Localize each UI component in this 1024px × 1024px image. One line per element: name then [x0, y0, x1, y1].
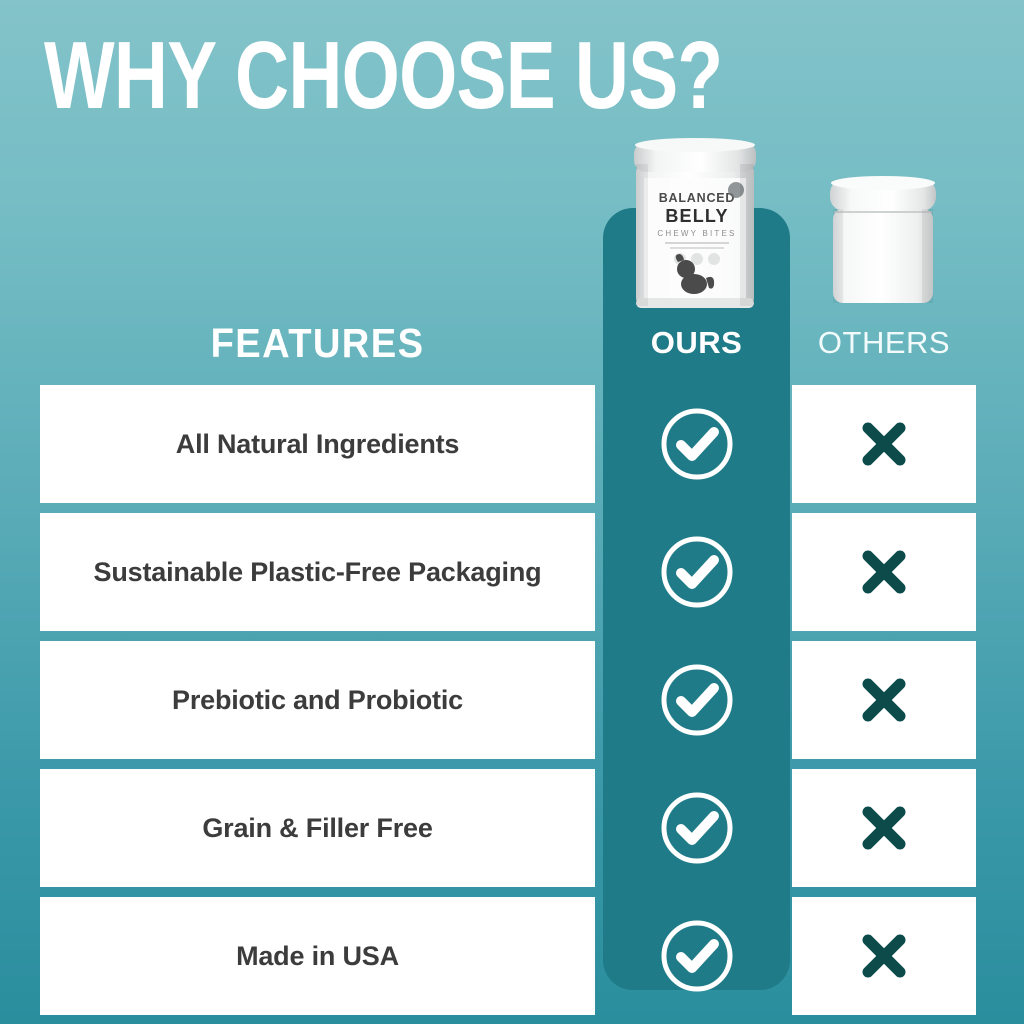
feature-cell: All Natural Ingredients	[40, 385, 595, 503]
check-circle-icon	[658, 405, 736, 483]
check-circle-icon	[658, 661, 736, 739]
cross-icon	[857, 801, 911, 855]
ours-cell	[603, 385, 790, 503]
others-cell	[792, 897, 976, 1015]
others-cell	[792, 385, 976, 503]
ours-cell	[603, 641, 790, 759]
feature-cell: Prebiotic and Probiotic	[40, 641, 595, 759]
cross-icon	[857, 929, 911, 983]
cross-icon	[857, 545, 911, 599]
cross-icon	[857, 417, 911, 471]
cross-icon	[857, 673, 911, 727]
feature-label: Made in USA	[226, 941, 409, 972]
ours-cell	[603, 897, 790, 1015]
ours-cell	[603, 513, 790, 631]
table-row: All Natural Ingredients	[0, 385, 1024, 503]
check-circle-icon	[658, 533, 736, 611]
comparison-table-rows: All Natural IngredientsSustainable Plast…	[0, 0, 1024, 1024]
ours-cell	[603, 769, 790, 887]
check-circle-icon	[658, 917, 736, 995]
feature-label: Grain & Filler Free	[192, 813, 442, 844]
table-row: Made in USA	[0, 897, 1024, 1015]
feature-cell: Grain & Filler Free	[40, 769, 595, 887]
check-circle-icon	[658, 789, 736, 867]
infographic-canvas: WHY CHOOSE US?	[0, 0, 1024, 1024]
feature-label: Sustainable Plastic-Free Packaging	[84, 557, 552, 588]
others-cell	[792, 641, 976, 759]
others-cell	[792, 513, 976, 631]
others-cell	[792, 769, 976, 887]
feature-cell: Sustainable Plastic-Free Packaging	[40, 513, 595, 631]
table-row: Sustainable Plastic-Free Packaging	[0, 513, 1024, 631]
table-row: Grain & Filler Free	[0, 769, 1024, 887]
feature-cell: Made in USA	[40, 897, 595, 1015]
table-row: Prebiotic and Probiotic	[0, 641, 1024, 759]
feature-label: All Natural Ingredients	[166, 429, 469, 460]
feature-label: Prebiotic and Probiotic	[162, 685, 473, 716]
